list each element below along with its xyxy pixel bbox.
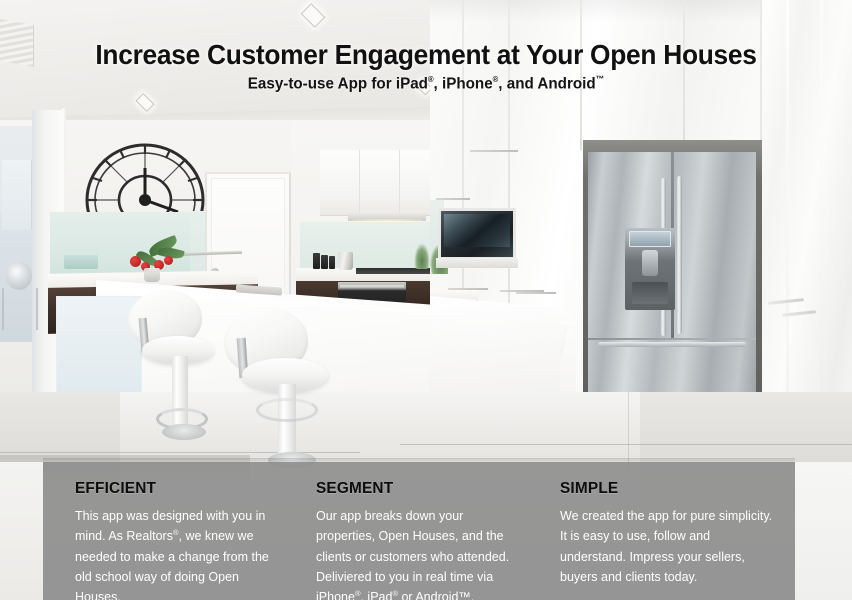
page-title: Increase Customer Engagement at Your Ope… bbox=[26, 40, 827, 70]
subtitle-part3: , and Android bbox=[498, 76, 595, 93]
dispenser-well bbox=[632, 282, 668, 304]
upper-cabinets bbox=[320, 150, 438, 216]
body-text-part2: , iPad bbox=[360, 590, 392, 600]
column-body-segment: Our app breaks down your properties, Ope… bbox=[316, 506, 515, 600]
microwave-base-shelf bbox=[436, 258, 518, 268]
subtitle-part1: Easy-to-use App for iPad bbox=[248, 76, 428, 93]
info-column-efficient: EFFICIENT This app was designed with you… bbox=[43, 462, 288, 600]
subtitle-part2: , iPhone bbox=[434, 76, 493, 93]
panel-right-margin bbox=[795, 462, 852, 600]
panel-left-margin bbox=[0, 462, 43, 600]
body-text-part3: or Android™. bbox=[398, 590, 474, 600]
canister bbox=[329, 256, 335, 269]
column-body-simple: We created the app for pure simplicity. … bbox=[560, 506, 777, 587]
column-heading-efficient: EFFICIENT bbox=[75, 480, 262, 498]
info-column-simple: SIMPLE We created the app for pure simpl… bbox=[533, 462, 795, 600]
fridge-drawer-seam bbox=[588, 338, 756, 340]
potted-plant bbox=[414, 243, 430, 269]
column-heading-segment: SEGMENT bbox=[316, 480, 507, 498]
left-window bbox=[2, 160, 32, 230]
column-body-efficient: This app was designed with you in mind. … bbox=[75, 506, 270, 600]
kettle bbox=[338, 252, 353, 270]
dispenser-nozzle bbox=[642, 250, 658, 276]
canister bbox=[313, 253, 320, 269]
info-column-segment: SEGMENT Our app breaks down your propert… bbox=[288, 462, 533, 600]
fridge-handle bbox=[677, 176, 682, 334]
microwave-glass bbox=[444, 214, 510, 247]
canister bbox=[321, 255, 328, 269]
column-heading-simple: SIMPLE bbox=[560, 480, 768, 498]
decor-stand bbox=[2, 288, 38, 330]
glassware bbox=[64, 255, 98, 269]
info-panel: EFFICIENT This app was designed with you… bbox=[43, 462, 795, 600]
fridge-drawer-handle bbox=[598, 342, 746, 347]
oven-handle bbox=[340, 285, 404, 288]
cabinet-handle bbox=[470, 150, 518, 152]
page-subtitle: Easy-to-use App for iPad®, iPhone®, and … bbox=[21, 74, 830, 93]
microwave bbox=[438, 208, 516, 260]
dispenser-control-panel bbox=[629, 231, 671, 247]
headline-block: Increase Customer Engagement at Your Ope… bbox=[0, 40, 852, 94]
trademark-mark-icon: ™ bbox=[596, 74, 605, 84]
poster-canvas: Increase Customer Engagement at Your Ope… bbox=[0, 0, 852, 600]
decorative-orb bbox=[6, 262, 32, 290]
red-roses-vase bbox=[124, 240, 186, 278]
cabinet-handle bbox=[516, 292, 556, 294]
body-text-part1: Our app breaks down your properties, Ope… bbox=[316, 509, 509, 600]
panel-top-shadow bbox=[43, 458, 795, 463]
